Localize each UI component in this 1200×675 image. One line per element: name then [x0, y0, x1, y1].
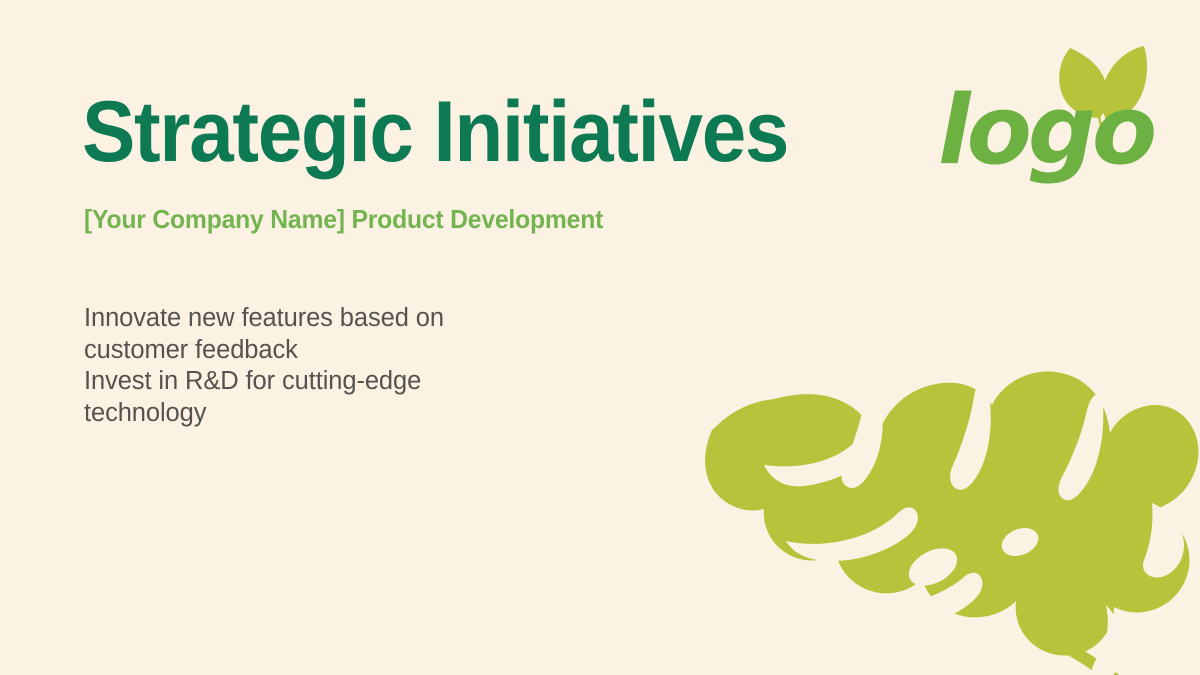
logo-wordmark: logo	[938, 84, 1153, 179]
slide-canvas: logo Strategic Initiatives [Your Company…	[0, 0, 1200, 675]
page-title: Strategic Initiatives	[82, 89, 788, 175]
list-item: Invest in R&D for cutting-edge technolog…	[84, 366, 484, 429]
page-subtitle: [Your Company Name] Product Development	[84, 204, 603, 235]
list-item: Innovate new features based on customer …	[84, 303, 484, 366]
logo[interactable]: logo	[938, 42, 1153, 182]
bullet-list: Innovate new features based on customer …	[84, 303, 484, 429]
monstera-leaf-icon	[690, 355, 1200, 675]
